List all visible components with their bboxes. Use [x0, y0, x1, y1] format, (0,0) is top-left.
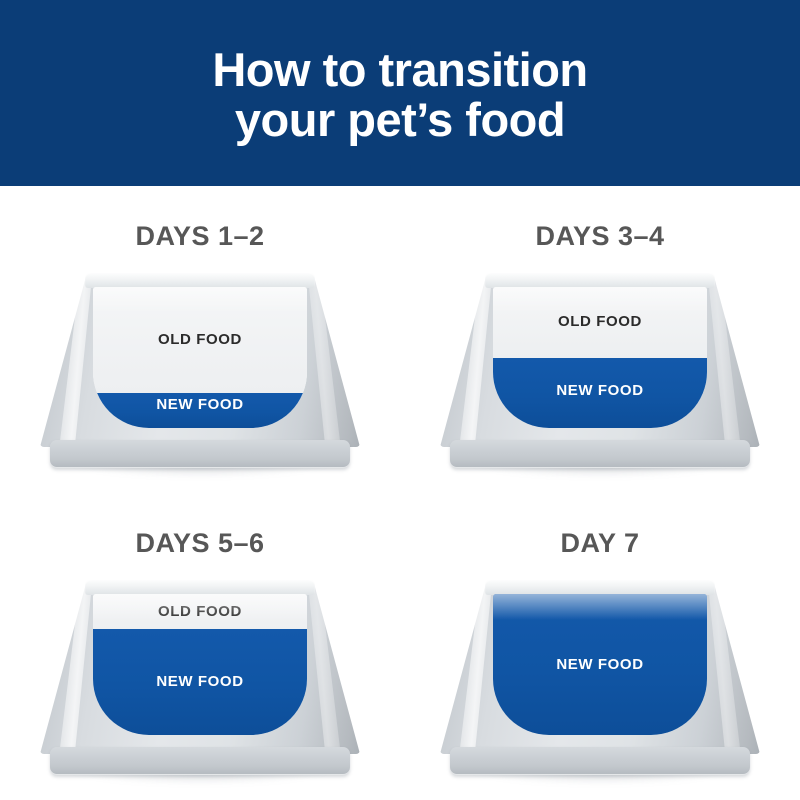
- new-food-label: NEW FOOD: [93, 396, 307, 413]
- new-food-label: NEW FOOD: [93, 673, 307, 690]
- bowl-rim: [485, 272, 715, 288]
- bowl-rim: [485, 579, 715, 595]
- bowl-base: [50, 440, 350, 468]
- step-title: DAYS 5–6: [135, 528, 264, 559]
- old-food-fill: OLD FOOD: [493, 287, 707, 358]
- food-bowl-days-1-2: OLD FOOD NEW FOOD: [40, 269, 360, 474]
- bowl-cavity: OLD FOOD NEW FOOD: [93, 287, 307, 428]
- step-title: DAY 7: [560, 528, 639, 559]
- bowl-cavity: NEW FOOD: [493, 594, 707, 735]
- bowl-cavity: OLD FOOD NEW FOOD: [93, 594, 307, 735]
- bowl-cavity: OLD FOOD NEW FOOD: [493, 287, 707, 428]
- new-food-label: NEW FOOD: [493, 382, 707, 399]
- bowl-rim: [85, 579, 315, 595]
- page-title: How to transition your pet’s food: [212, 41, 587, 145]
- step-card-days-3-4: DAYS 3–4 OLD FOOD NEW FOOD: [400, 186, 800, 493]
- new-food-fill: NEW FOOD: [493, 594, 707, 735]
- old-food-label: OLD FOOD: [93, 603, 307, 620]
- food-bowl-day-7: NEW FOOD: [440, 576, 760, 781]
- bowl-base: [50, 747, 350, 775]
- step-card-days-5-6: DAYS 5–6 OLD FOOD NEW FOOD: [0, 493, 400, 800]
- page-title-line-1: How to transition: [212, 43, 587, 96]
- step-card-days-1-2: DAYS 1–2 OLD FOOD NEW FOOD: [0, 186, 400, 493]
- header-banner: How to transition your pet’s food: [0, 0, 800, 186]
- page-title-line-2: your pet’s food: [212, 95, 587, 145]
- old-food-fill: OLD FOOD: [93, 594, 307, 629]
- new-food-fill: NEW FOOD: [93, 629, 307, 735]
- old-food-label: OLD FOOD: [93, 331, 307, 348]
- step-card-day-7: DAY 7 NEW FOOD: [400, 493, 800, 800]
- food-bowl-days-3-4: OLD FOOD NEW FOOD: [440, 269, 760, 474]
- step-title: DAYS 1–2: [135, 221, 264, 252]
- old-food-label: OLD FOOD: [493, 313, 707, 330]
- infographic-page: How to transition your pet’s food DAYS 1…: [0, 0, 800, 800]
- bowl-base: [450, 747, 750, 775]
- step-title: DAYS 3–4: [535, 221, 664, 252]
- bowl-base: [450, 440, 750, 468]
- new-food-label: NEW FOOD: [493, 656, 707, 673]
- old-food-fill: OLD FOOD: [93, 287, 307, 393]
- bowl-rim: [85, 272, 315, 288]
- new-food-fill: NEW FOOD: [93, 393, 307, 428]
- steps-grid: DAYS 1–2 OLD FOOD NEW FOOD: [0, 186, 800, 800]
- new-food-fill: NEW FOOD: [493, 358, 707, 429]
- food-bowl-days-5-6: OLD FOOD NEW FOOD: [40, 576, 360, 781]
